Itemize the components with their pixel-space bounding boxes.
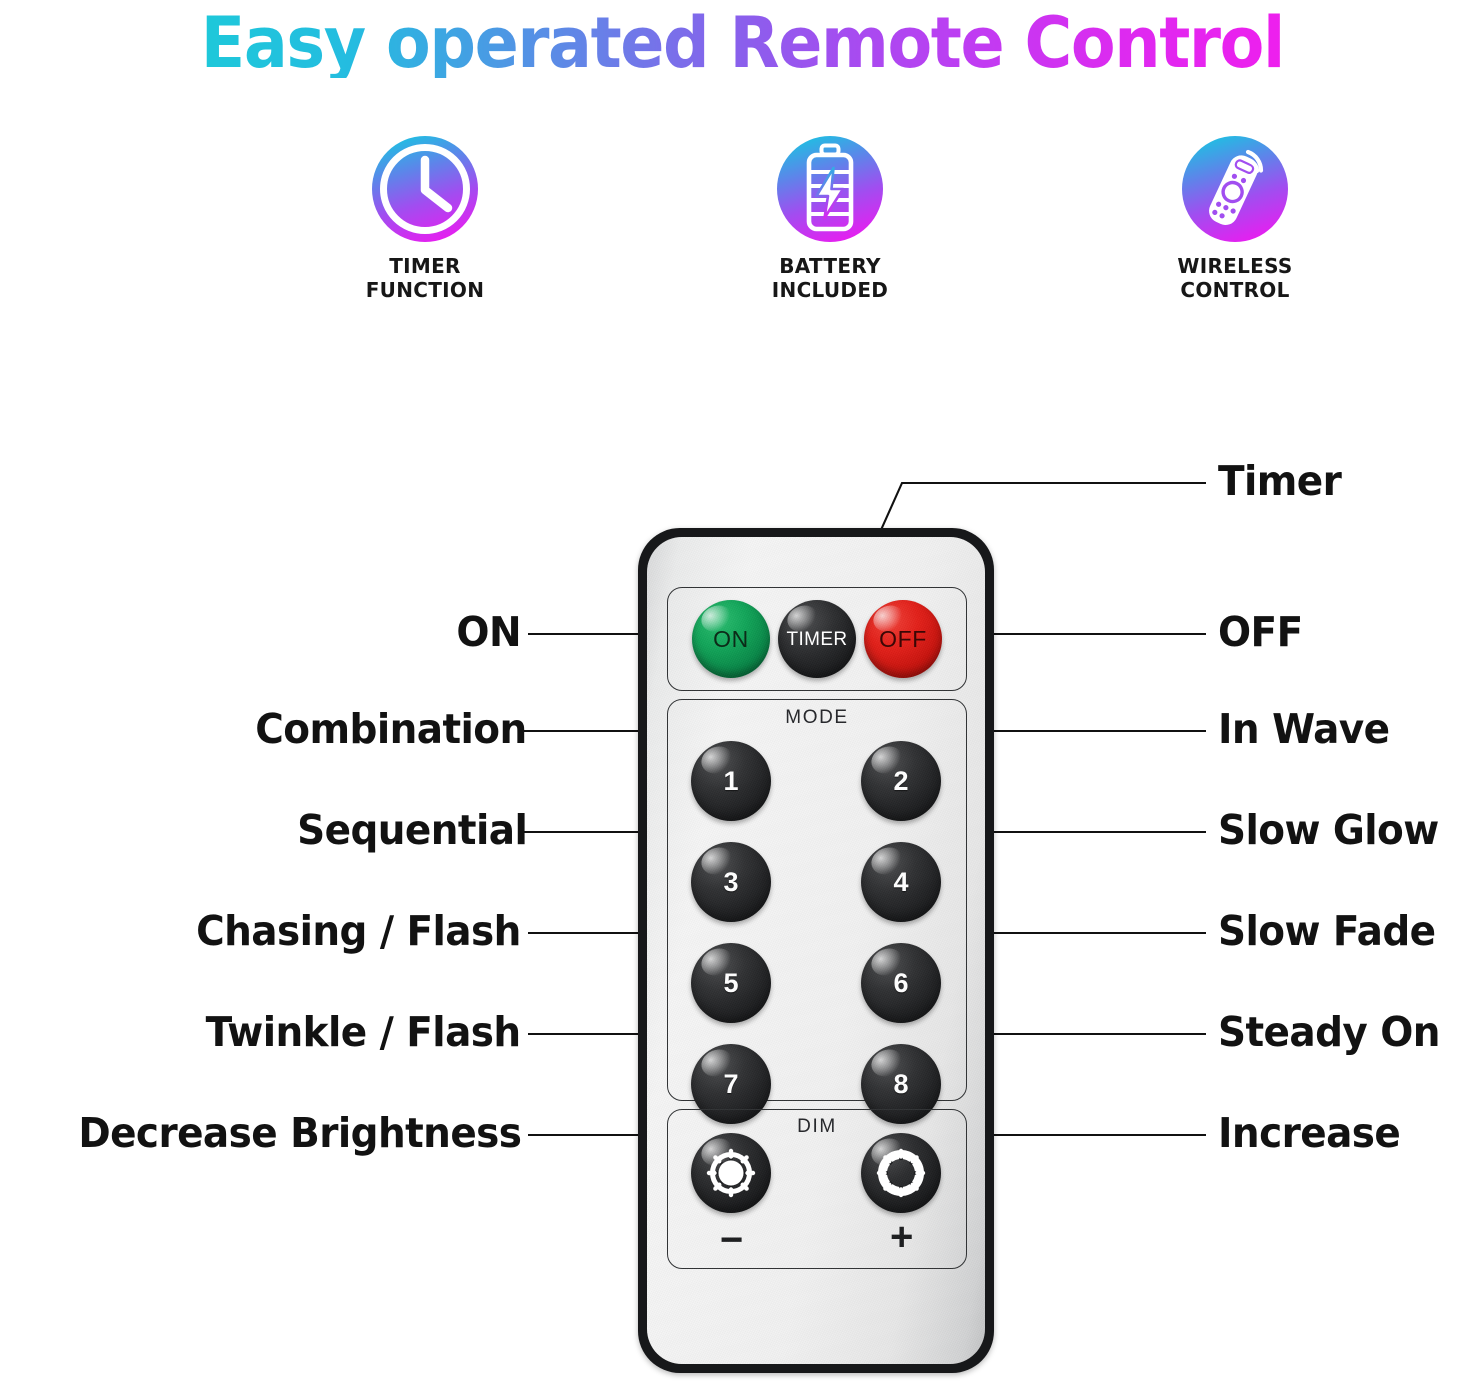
dim-button-group: DIM bbox=[667, 1109, 967, 1269]
callout-chasing-flash: Chasing / Flash bbox=[196, 911, 521, 952]
feature-wireless-control: WIRELESS CONTROL bbox=[1120, 132, 1350, 302]
off-button-label: OFF bbox=[879, 628, 927, 651]
battery-icon bbox=[773, 132, 887, 246]
mode-button-label: 5 bbox=[723, 970, 738, 997]
callout-sequential: Sequential bbox=[297, 810, 527, 851]
page-title-text: Easy operated Remote Control bbox=[200, 8, 1283, 78]
feature-label: WIRELESS CONTROL bbox=[1177, 255, 1292, 302]
callout-decrease-brightness: Decrease Brightness bbox=[78, 1113, 521, 1154]
off-button[interactable]: OFF bbox=[864, 600, 942, 678]
mode-button-3[interactable]: 3 bbox=[691, 842, 771, 922]
on-button-label: ON bbox=[713, 628, 749, 651]
mode-button-label: 3 bbox=[723, 869, 738, 896]
feature-label: BATTERY INCLUDED bbox=[772, 255, 888, 302]
dim-up-button[interactable] bbox=[861, 1133, 941, 1213]
clock-icon bbox=[368, 132, 482, 246]
mode-button-6[interactable]: 6 bbox=[861, 943, 941, 1023]
infographic-canvas: Easy operated Remote Control bbox=[0, 0, 1484, 1388]
dim-down-button[interactable] bbox=[691, 1133, 771, 1213]
mode-button-label: 2 bbox=[893, 768, 908, 795]
callout-increase: Increase bbox=[1218, 1113, 1400, 1154]
mode-button-label: 1 bbox=[723, 768, 738, 795]
mode-caption: MODE bbox=[668, 707, 966, 729]
mode-button-label: 8 bbox=[893, 1071, 908, 1098]
feature-badge-row: TIMER FUNCTION bbox=[300, 132, 1360, 317]
callout-in-wave: In Wave bbox=[1218, 709, 1389, 750]
page-title: Easy operated Remote Control bbox=[0, 2, 1484, 84]
mode-button-4[interactable]: 4 bbox=[861, 842, 941, 922]
mode-button-label: 7 bbox=[723, 1071, 738, 1098]
mode-button-label: 6 bbox=[893, 970, 908, 997]
callout-on: ON bbox=[456, 612, 521, 653]
callout-twinkle-flash: Twinkle / Flash bbox=[206, 1012, 521, 1053]
mode-button-1[interactable]: 1 bbox=[691, 741, 771, 821]
remote-icon bbox=[1178, 132, 1292, 246]
timer-button-label: TIMER bbox=[786, 630, 847, 649]
mode-button-2[interactable]: 2 bbox=[861, 741, 941, 821]
remote-faceplate: ON TIMER OFF MODE 1 bbox=[647, 537, 985, 1364]
callout-off: OFF bbox=[1218, 612, 1303, 653]
timer-button[interactable]: TIMER bbox=[778, 600, 856, 678]
sun-filled-icon bbox=[691, 1133, 771, 1213]
feature-label: TIMER FUNCTION bbox=[366, 255, 485, 302]
remote-control-device: ON TIMER OFF MODE 1 bbox=[638, 528, 994, 1373]
dim-up-sign: + bbox=[890, 1217, 913, 1257]
power-button-group: ON TIMER OFF bbox=[667, 587, 967, 691]
mode-button-5[interactable]: 5 bbox=[691, 943, 771, 1023]
feature-battery-included: BATTERY INCLUDED bbox=[715, 132, 945, 302]
callout-slow-glow: Slow Glow bbox=[1218, 810, 1439, 851]
on-button[interactable]: ON bbox=[692, 600, 770, 678]
feature-timer-function: TIMER FUNCTION bbox=[310, 132, 540, 302]
callout-steady-on: Steady On bbox=[1218, 1012, 1440, 1053]
mode-button-group: MODE 1 2 3 4 bbox=[667, 699, 967, 1101]
callout-timer: Timer bbox=[1218, 461, 1341, 502]
callout-slow-fade: Slow Fade bbox=[1218, 911, 1435, 952]
callout-combination: Combination bbox=[256, 709, 527, 750]
mode-button-label: 4 bbox=[893, 869, 908, 896]
dim-down-sign: − bbox=[720, 1220, 743, 1260]
sun-hollow-icon bbox=[861, 1133, 941, 1213]
